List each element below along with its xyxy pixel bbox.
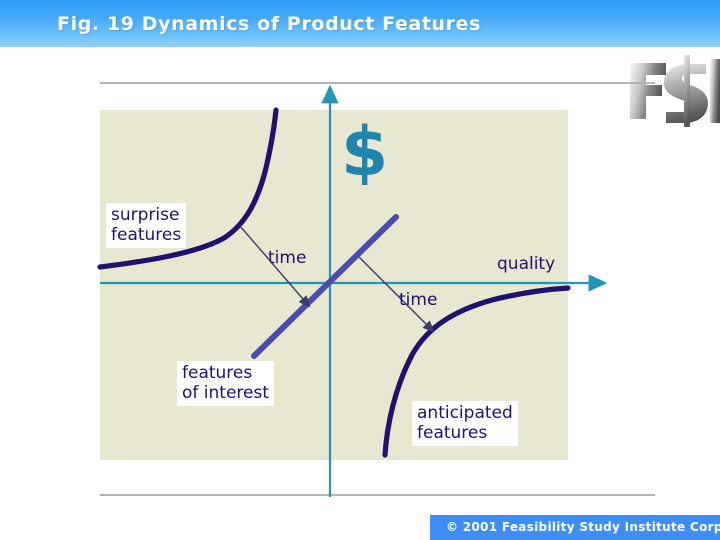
- label-anticipated-features: anticipated features: [412, 401, 518, 446]
- divider-bottom: [100, 494, 655, 496]
- label-quality-axis: quality: [497, 254, 555, 274]
- fsi-logo: [626, 55, 720, 127]
- page-title: Fig. 19 Dynamics of Product Features: [57, 13, 481, 35]
- label-surprise-features: surprise features: [106, 203, 186, 248]
- label-time-upper-left: time: [268, 248, 306, 268]
- label-time-lower-right: time: [399, 290, 437, 310]
- divider-top: [100, 82, 655, 84]
- copyright-notice: © 2001 Feasibility Study Institute Corp.: [446, 520, 720, 534]
- label-features-of-interest: features of interest: [177, 361, 274, 406]
